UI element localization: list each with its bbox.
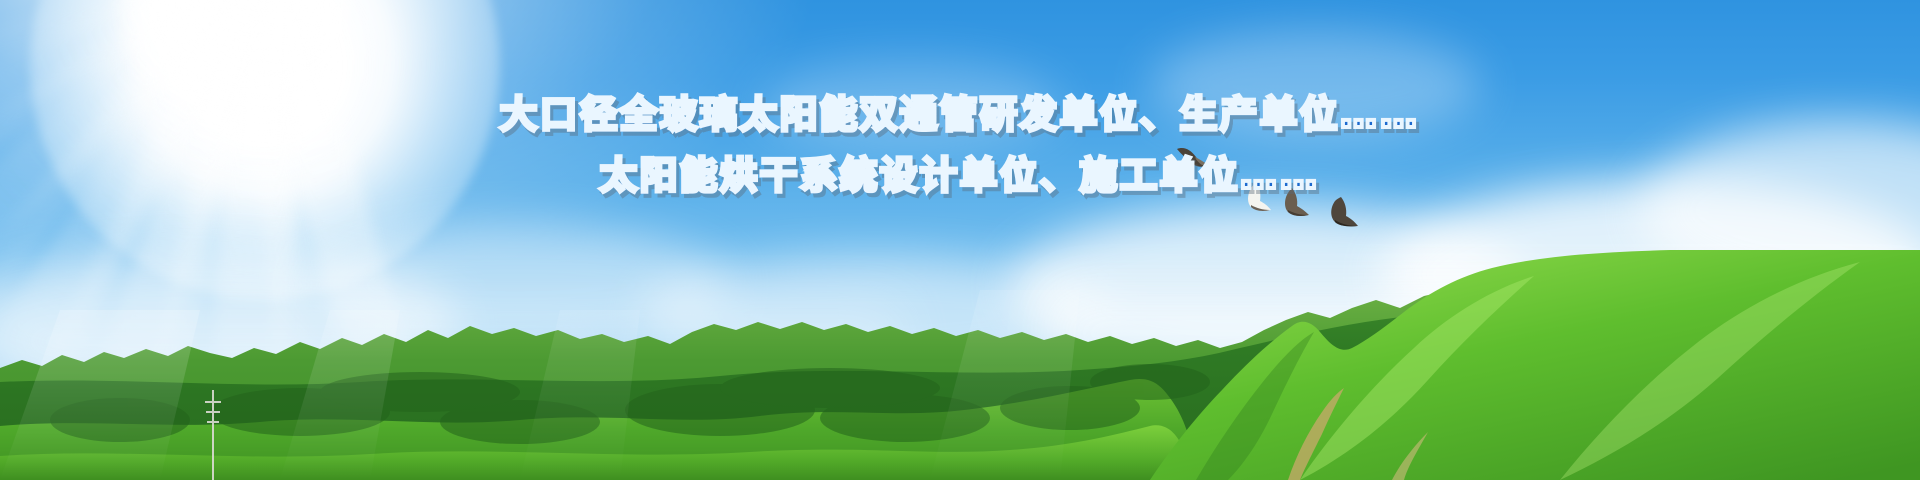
cloud-icon bbox=[1150, 30, 1480, 140]
bird-icon-4 bbox=[1325, 196, 1359, 228]
green-hills bbox=[0, 250, 1920, 480]
bird-icon-2 bbox=[1242, 181, 1272, 213]
bird-icon-3 bbox=[1278, 187, 1310, 217]
hero-banner: 大口径全玻璃太阳能双通管研发单位、生产单位…… 太阳能烘干系统设计单位、施工单位… bbox=[0, 0, 1920, 480]
cloud-icon bbox=[760, 60, 1060, 150]
bird-icon-1 bbox=[1175, 145, 1209, 171]
